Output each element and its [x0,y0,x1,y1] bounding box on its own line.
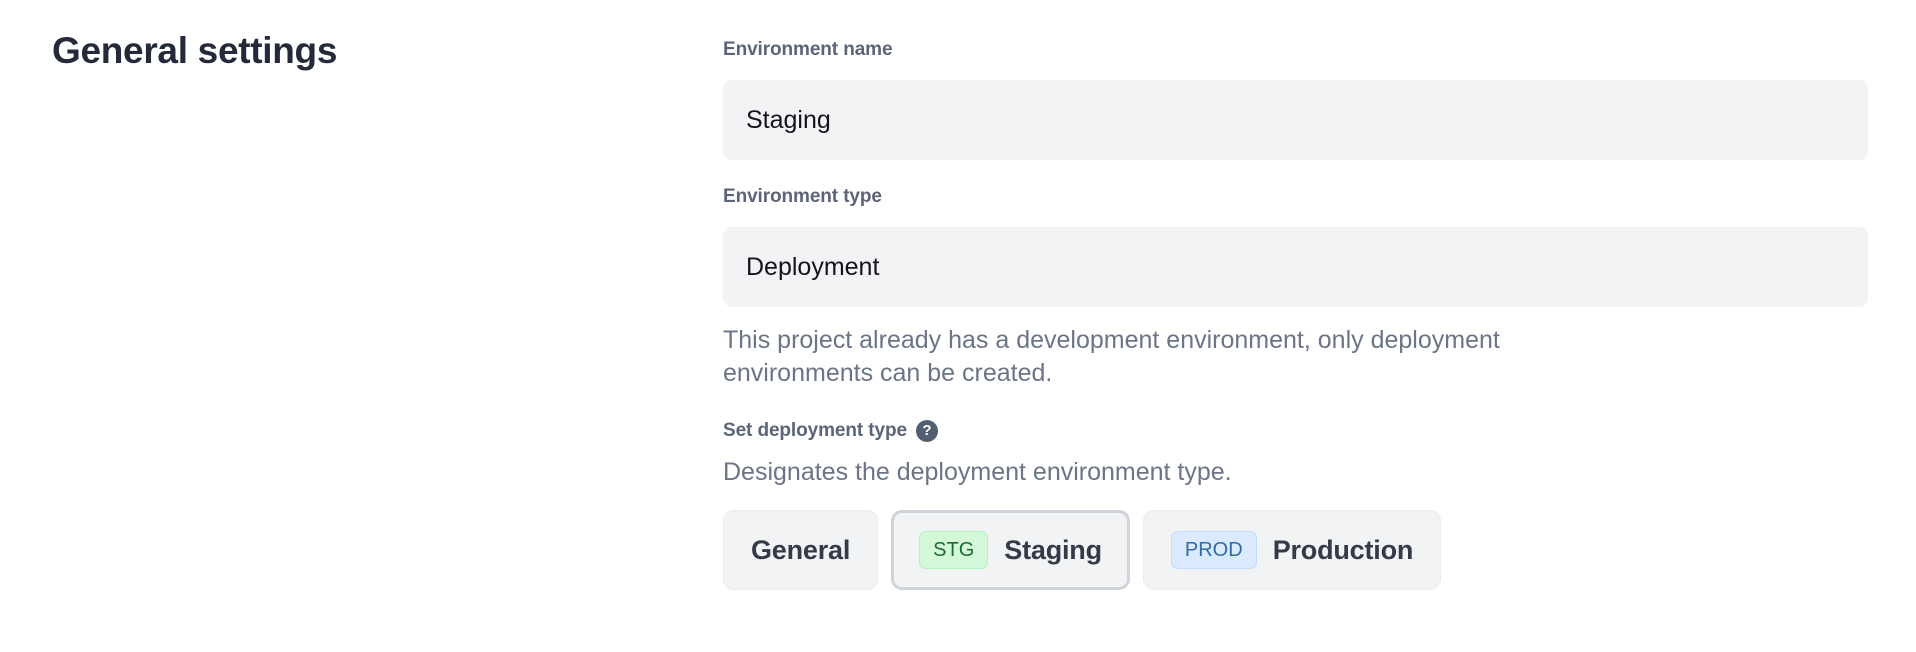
page-title: General settings [52,30,337,72]
environment-type-input[interactable]: Deployment [723,227,1868,307]
environment-type-help-text: This project already has a development e… [723,324,1633,391]
deployment-option-staging-label: Staging [1004,535,1102,566]
deployment-type-label-row: Set deployment type ? [723,420,1868,442]
settings-form: Environment name Staging Environment typ… [723,40,1868,590]
deployment-option-general-label: General [751,535,850,566]
prod-badge: PROD [1171,531,1257,569]
stg-badge: STG [919,531,988,569]
deployment-option-production-label: Production [1273,535,1414,566]
question-mark-icon[interactable]: ? [916,420,938,442]
environment-type-field: Environment type Deployment This project… [723,187,1868,391]
deployment-option-production[interactable]: PROD Production [1143,510,1441,590]
deployment-option-general[interactable]: General [723,510,878,590]
deployment-type-options: General STG Staging PROD Production [723,510,1868,590]
deployment-type-description: Designates the deployment environment ty… [723,456,1868,489]
environment-type-label: Environment type [723,187,1868,206]
deployment-type-group: Set deployment type ? Designates the dep… [723,420,1868,591]
environment-name-label: Environment name [723,40,1868,59]
deployment-type-label: Set deployment type [723,421,907,440]
environment-name-field: Environment name Staging [723,40,1868,160]
general-settings-page: General settings Environment name Stagin… [0,0,1916,652]
environment-name-input[interactable]: Staging [723,80,1868,160]
deployment-option-staging[interactable]: STG Staging [891,510,1130,590]
